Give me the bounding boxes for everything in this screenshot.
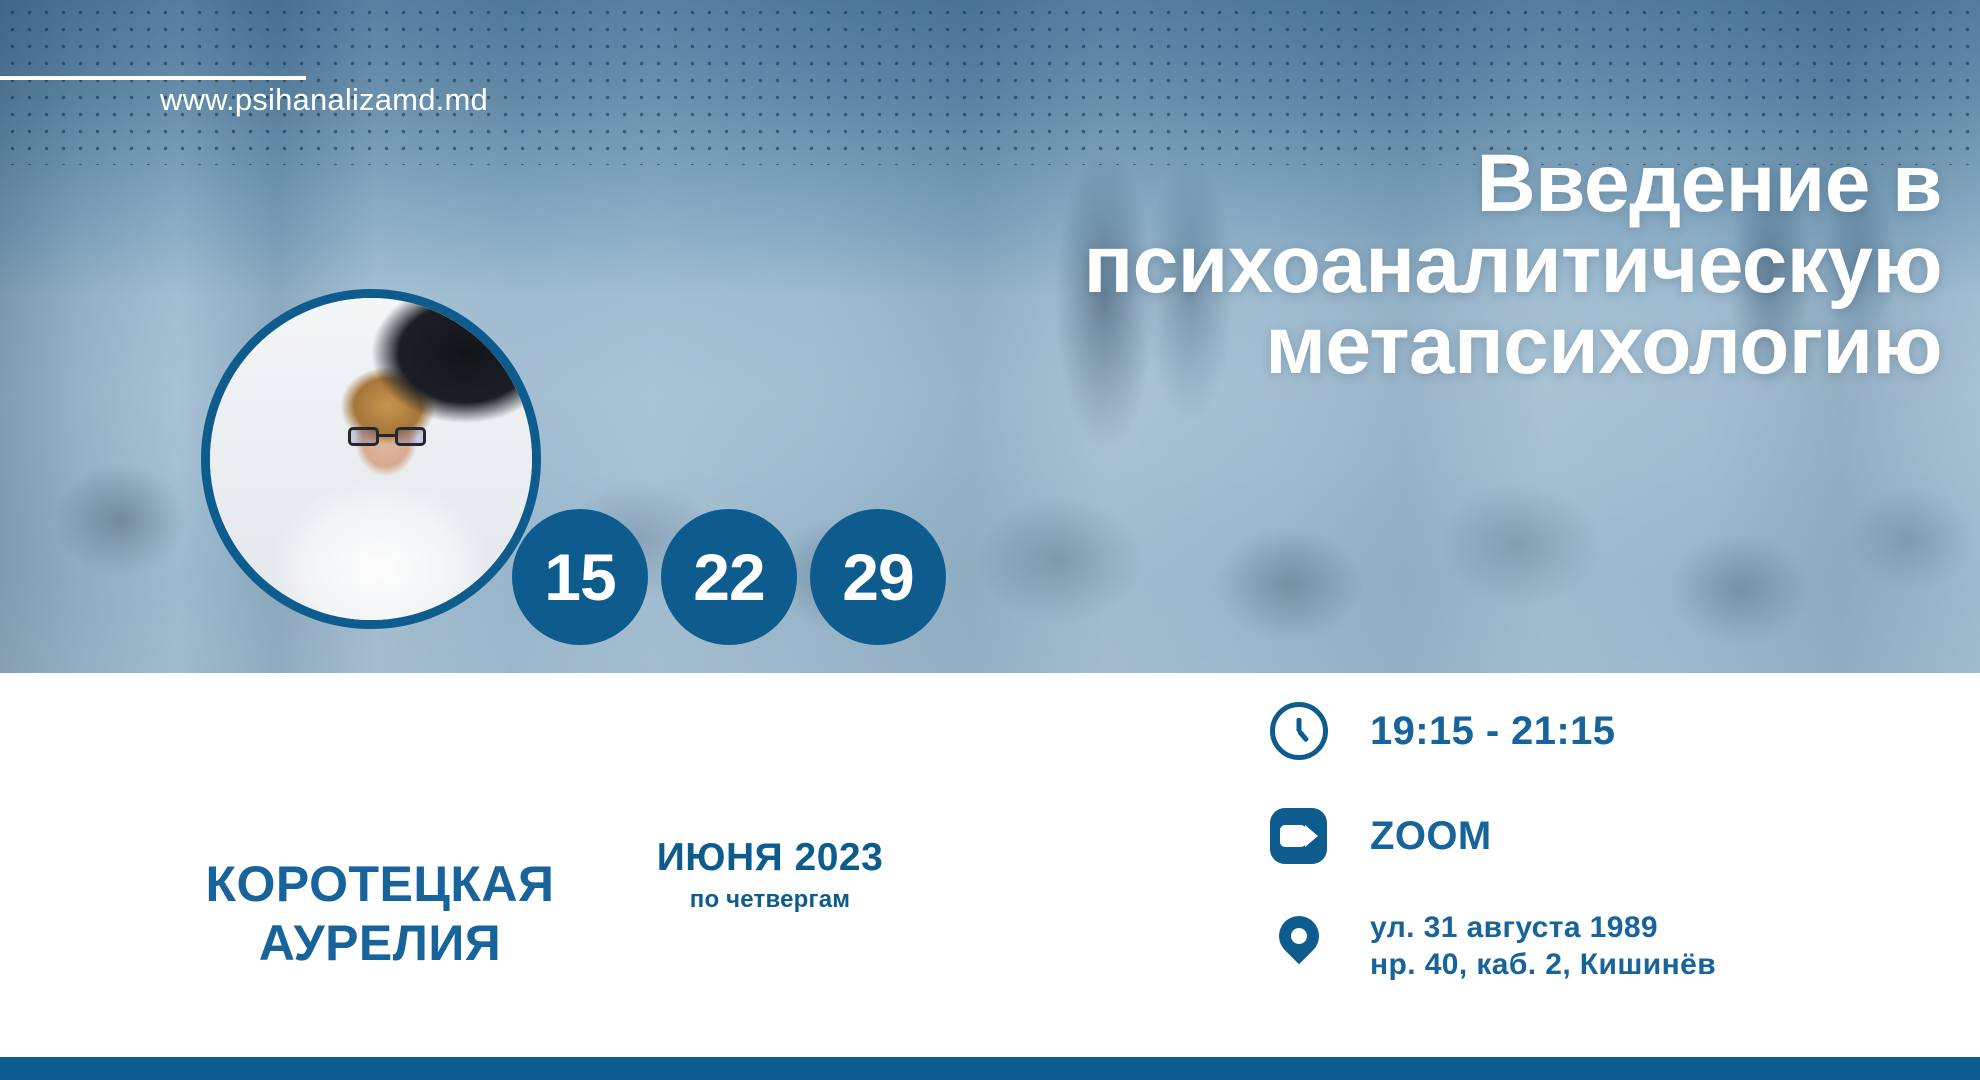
event-poster: www.psihanalizamd.md Введение в психоана… <box>0 0 1980 1080</box>
clock-icon <box>1268 700 1330 762</box>
detail-row-address: ул. 31 августа 1989 нр. 40, каб. 2, Киши… <box>1268 910 1716 983</box>
glasses-icon <box>348 427 426 446</box>
date-circle-day-2[interactable]: 22 <box>661 509 797 645</box>
title-line-3: метапсихологию <box>702 305 1942 386</box>
address-value: ул. 31 августа 1989 нр. 40, каб. 2, Киши… <box>1370 910 1716 983</box>
address-line-1: ул. 31 августа 1989 <box>1370 910 1716 947</box>
detail-row-platform: ZOOM <box>1268 805 1716 867</box>
portrait-image <box>210 298 532 620</box>
map-pin-icon <box>1268 916 1330 978</box>
bottom-accent-bar <box>0 1057 1980 1080</box>
speaker-portrait-avatar <box>201 289 541 629</box>
date-circle-day-3[interactable]: 29 <box>810 509 946 645</box>
speaker-first-name: АУРЕЛИЯ <box>100 914 660 973</box>
zoom-video-icon <box>1268 805 1330 867</box>
detail-row-time: 19:15 - 21:15 <box>1268 700 1716 762</box>
website-url[interactable]: www.psihanalizamd.md <box>160 84 488 115</box>
title-line-1: Введение в <box>702 143 1942 224</box>
title-line-2: психоаналитическую <box>702 224 1942 305</box>
event-details-list: 19:15 - 21:15 ZOOM ул. 31 августа 1989 н… <box>1268 700 1716 983</box>
page-title: Введение в психоаналитическую метапсихол… <box>702 143 1942 387</box>
white-rule-divider <box>0 76 306 80</box>
speaker-name: КОРОТЕЦКАЯ АУРЕЛИЯ <box>100 855 660 973</box>
speaker-last-name: КОРОТЕЦКАЯ <box>100 855 660 914</box>
time-value: 19:15 - 21:15 <box>1370 709 1615 754</box>
date-circle-day-1[interactable]: 15 <box>512 509 648 645</box>
platform-value: ZOOM <box>1370 814 1492 859</box>
address-line-2: нр. 40, каб. 2, Кишинёв <box>1370 947 1716 984</box>
